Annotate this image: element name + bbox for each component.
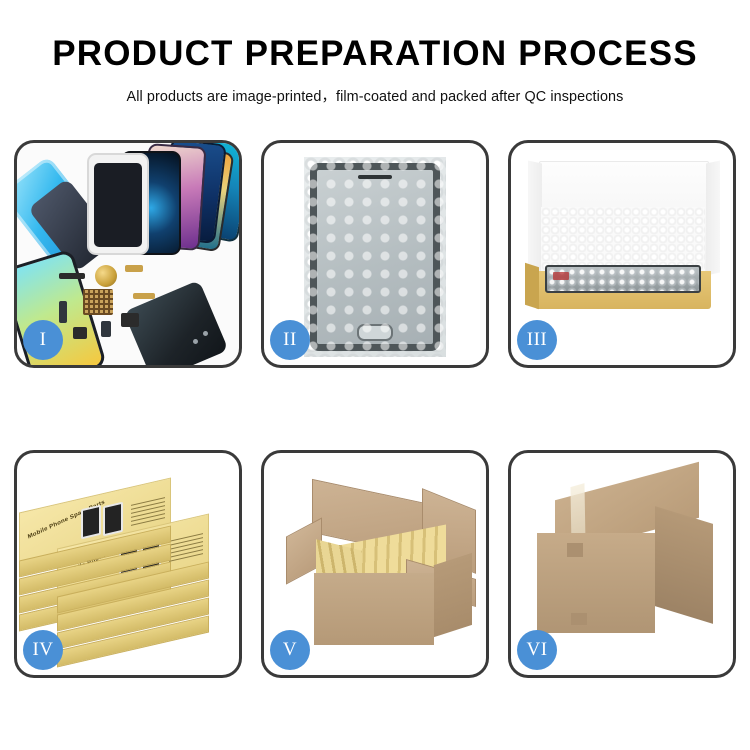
step-badge-5: V — [270, 630, 310, 670]
step-panel-6: VI — [508, 450, 736, 678]
shipping-carton-sealed — [531, 481, 721, 649]
step-badge-1: I — [23, 320, 63, 360]
screw-icon-2 — [203, 331, 208, 336]
carton-right-face — [434, 553, 472, 637]
step-badge-6: VI — [517, 630, 557, 670]
step-panel-3: III — [508, 140, 736, 368]
step-badge-4: IV — [23, 630, 63, 670]
chip-strip-3 — [73, 327, 87, 339]
carton-sealed-right-face — [655, 506, 713, 624]
carton-flap-tab-bottom — [571, 613, 587, 625]
step-badge-2: II — [270, 320, 310, 360]
carton-flap-tab-top — [567, 543, 583, 557]
chip-strip-1 — [59, 273, 85, 279]
step-panel-2: II — [261, 140, 489, 368]
retail-box-phone-art-2 — [103, 502, 123, 537]
page-subtitle: All products are image-printed，film-coat… — [0, 73, 750, 106]
phone-screen-white-frame — [87, 153, 149, 255]
bubble-wrap — [304, 157, 446, 357]
step-panel-5: V — [261, 450, 489, 678]
retail-box-phone-art-1 — [81, 505, 101, 540]
speaker-coil-icon — [95, 265, 117, 287]
flex-cable-2 — [133, 293, 155, 299]
wrapped-screen-in-box — [545, 265, 701, 293]
carton-sealed-front-face — [537, 533, 655, 633]
chip-strip-2 — [121, 313, 139, 327]
page-title: PRODUCT PREPARATION PROCESS — [0, 0, 750, 73]
carton-front-face — [314, 573, 434, 645]
product-preparation-page: PRODUCT PREPARATION PROCESS All products… — [0, 0, 750, 750]
step-panel-1: I — [14, 140, 242, 368]
step-badge-3: III — [517, 320, 557, 360]
flex-cable-1 — [125, 265, 143, 272]
shipping-carton-open — [286, 487, 472, 649]
process-steps-grid: I II III — [14, 140, 736, 680]
component-grid-icon — [83, 289, 113, 315]
phone-glass-panel — [310, 163, 440, 351]
page-header: PRODUCT PREPARATION PROCESS All products… — [0, 0, 750, 106]
screw-icon-1 — [193, 339, 198, 344]
flex-cable-4 — [101, 321, 111, 337]
step-panel-4: Mobile Phone Spare Parts Mobile Phone Sp… — [14, 450, 242, 678]
flex-cable-3 — [59, 301, 67, 323]
